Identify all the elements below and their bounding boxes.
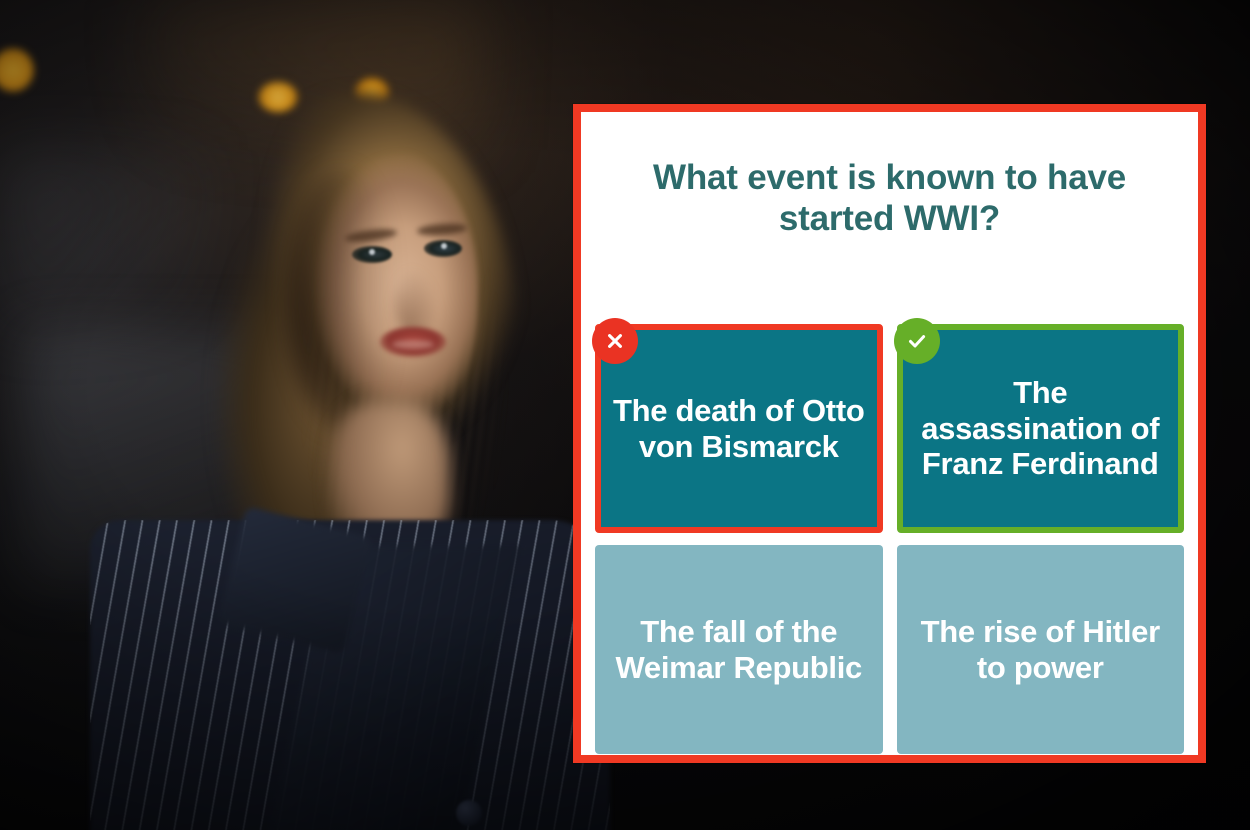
quiz-card: What event is known to have started WWI?… — [573, 104, 1206, 763]
answer-option-label: The rise of Hitler to power — [903, 614, 1179, 686]
answer-option-wrong[interactable]: The death of Otto von Bismarck — [595, 324, 883, 533]
answer-option-label: The assassination of Franz Ferdinand — [909, 375, 1173, 483]
answer-option-label: The fall of the Weimar Republic — [601, 614, 877, 686]
answer-option-correct[interactable]: The assassination of Franz Ferdinand — [897, 324, 1185, 533]
quiz-question: What event is known to have started WWI? — [621, 158, 1158, 239]
screenshot-stage: What event is known to have started WWI?… — [0, 0, 1250, 830]
x-icon — [592, 318, 638, 364]
answer-option-neutral[interactable]: The rise of Hitler to power — [897, 545, 1185, 754]
answer-option-neutral[interactable]: The fall of the Weimar Republic — [595, 545, 883, 754]
check-icon — [894, 318, 940, 364]
quiz-answer-grid: The death of Otto von Bismarck The assas… — [587, 324, 1192, 754]
answer-option-label: The death of Otto von Bismarck — [607, 393, 871, 465]
